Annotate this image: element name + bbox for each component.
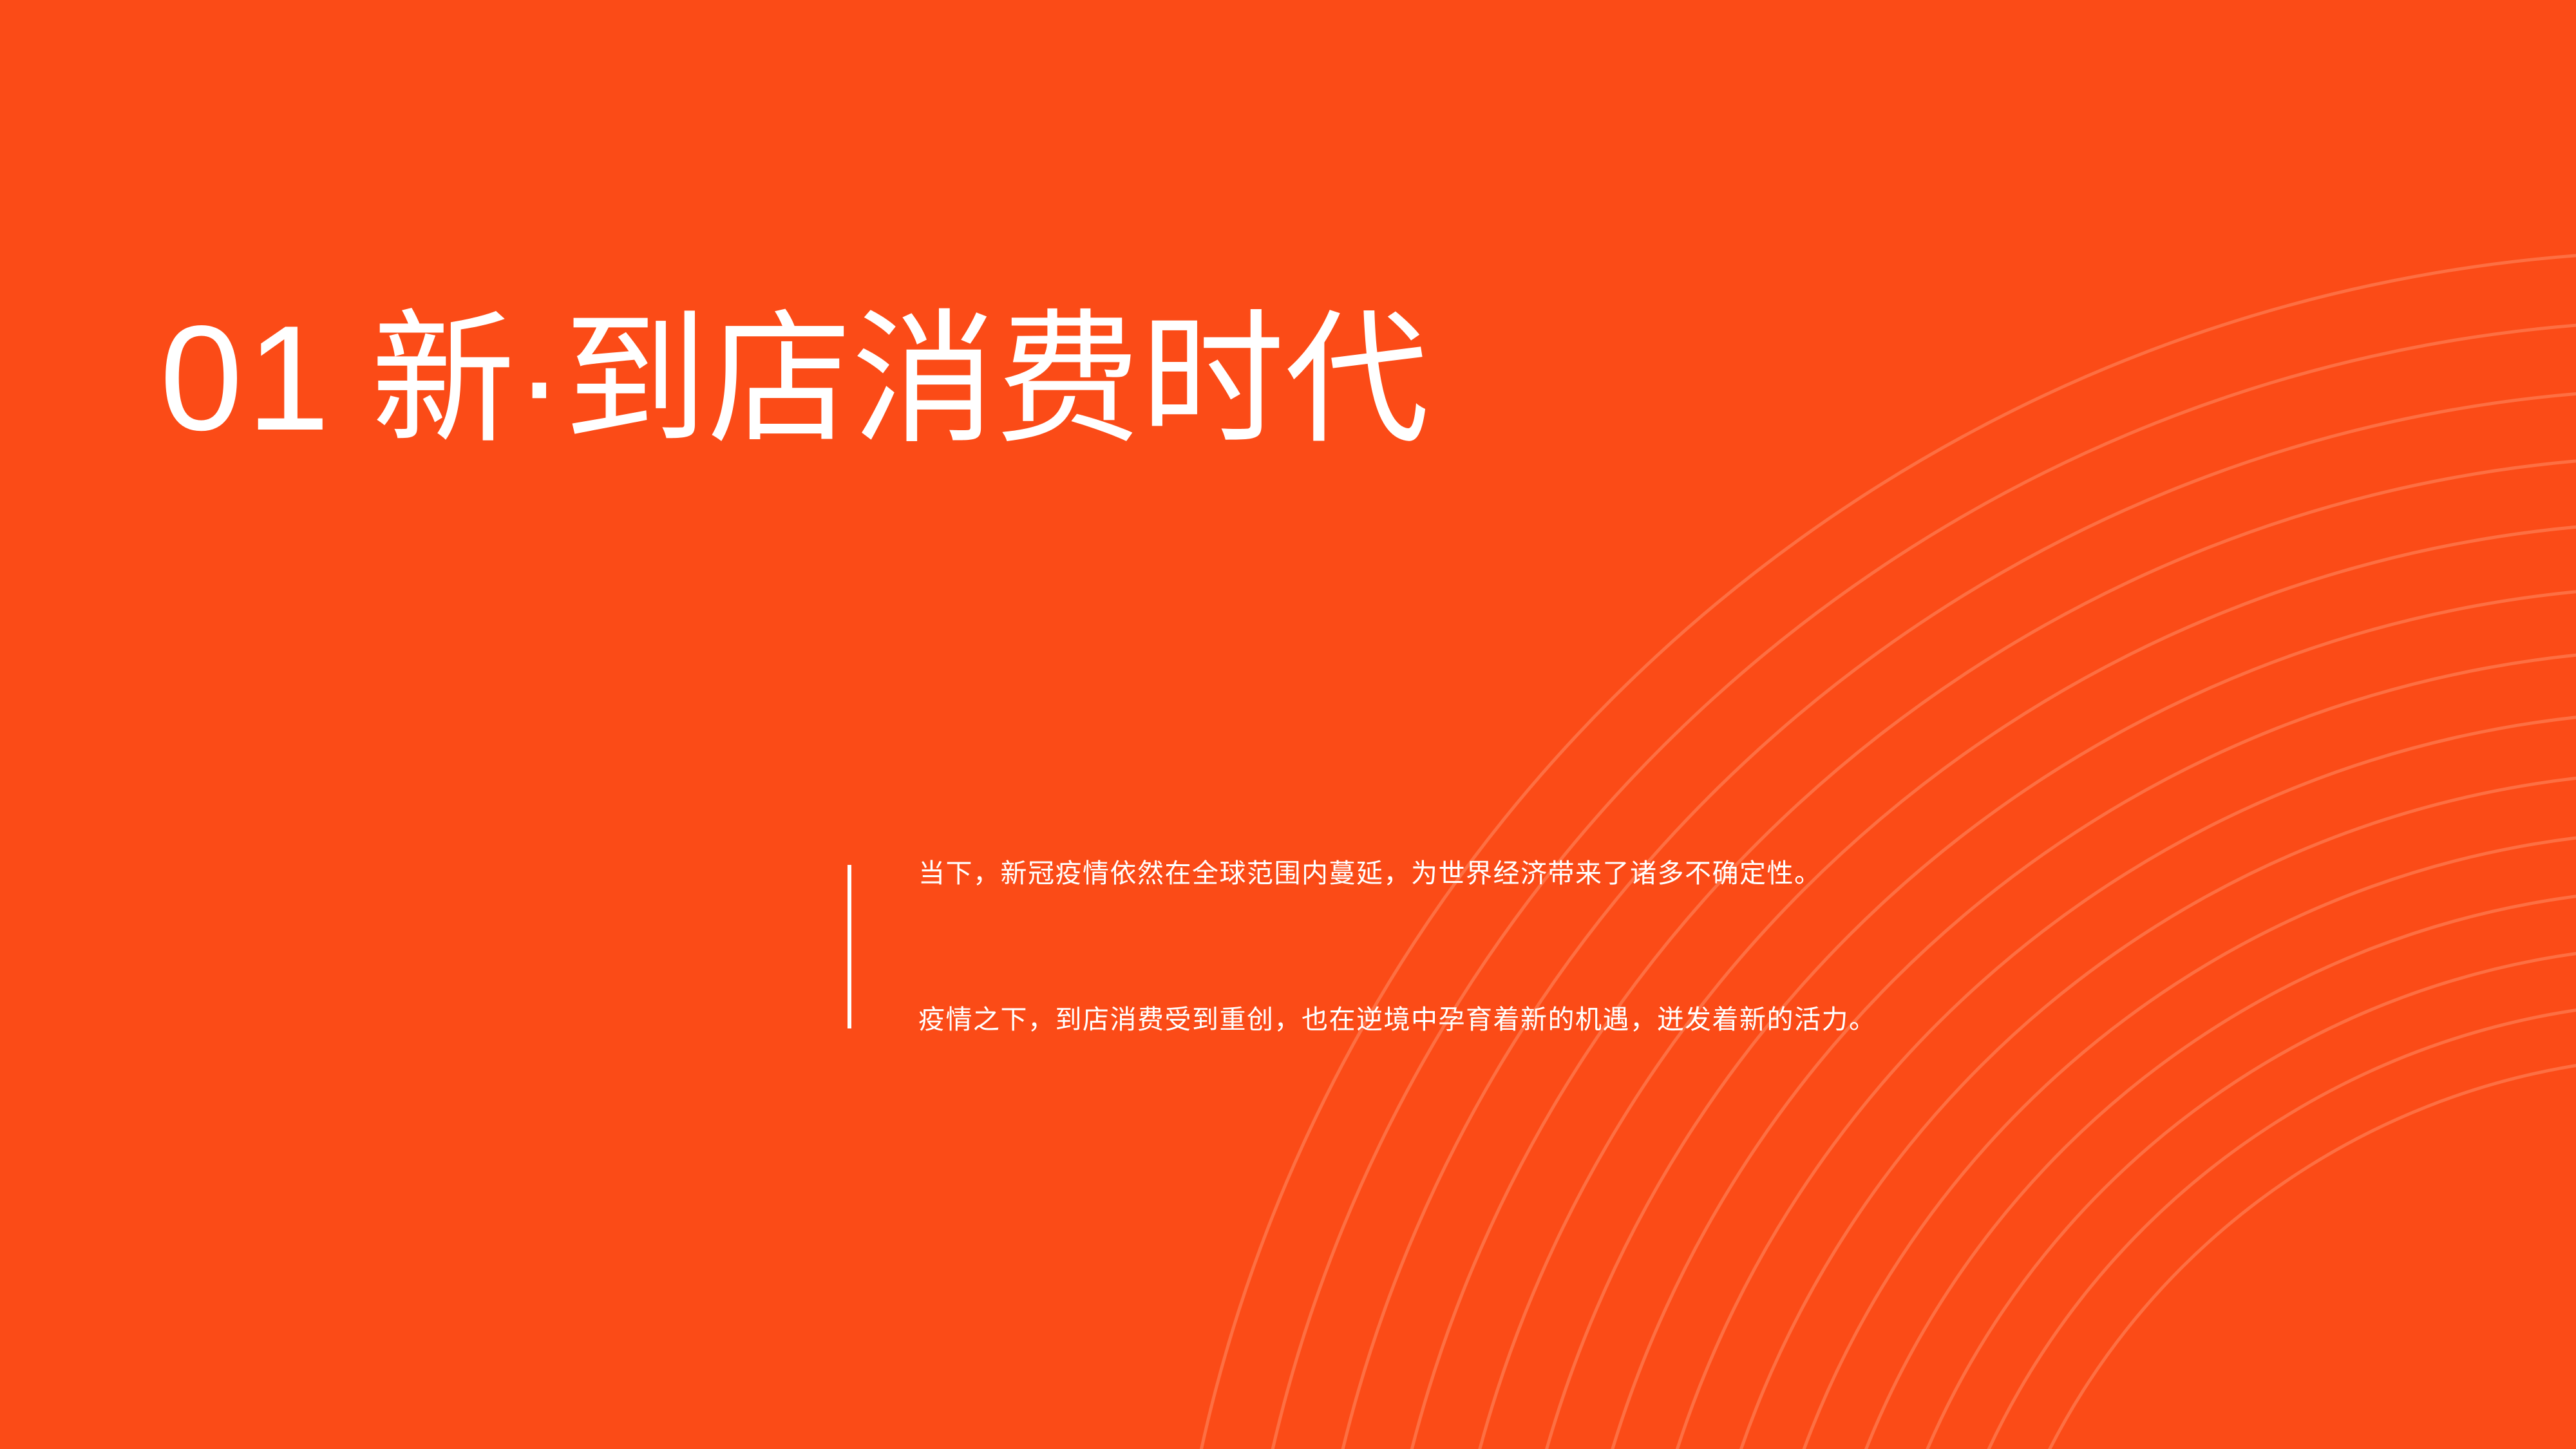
body-copy-lines: 当下，新冠疫情依然在全球范围内蔓延，为世界经济带来了诸多不确定性。 疫情之下，到… bbox=[851, 865, 1877, 1028]
body-line-2: 疫情之下，到店消费受到重创，也在逆境中孕育着新的机遇，迸发着新的活力。 bbox=[918, 973, 1877, 1066]
slide-canvas: 01新·到店消费时代 当下，新冠疫情依然在全球范围内蔓延，为世界经济带来了诸多不… bbox=[0, 0, 2576, 1449]
page-title: 01新·到店消费时代 bbox=[160, 304, 1429, 453]
concentric-arcs-decoration bbox=[0, 0, 2576, 1449]
section-number: 01 bbox=[160, 295, 371, 462]
section-title-block: 01新·到店消费时代 bbox=[160, 237, 2478, 520]
section-heading: 新·到店消费时代 bbox=[371, 299, 1429, 460]
body-copy-block: 当下，新冠疫情依然在全球范围内蔓延，为世界经济带来了诸多不确定性。 疫情之下，到… bbox=[848, 865, 1877, 1028]
body-line-1: 当下，新冠疫情依然在全球范围内蔓延，为世界经济带来了诸多不确定性。 bbox=[918, 827, 1877, 920]
